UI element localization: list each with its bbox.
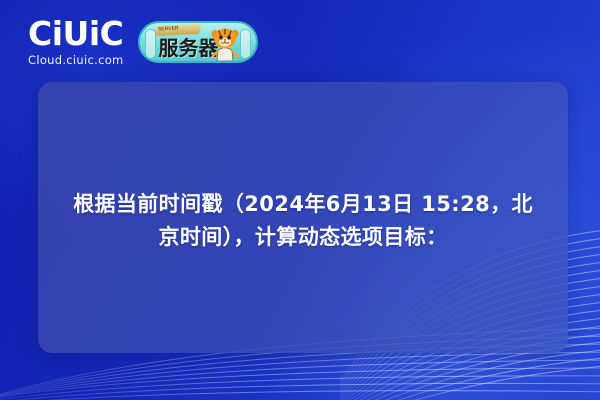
content-card: 根据当前时间戳（2024年6月13日 15:28，北京时间），计算动态选项目标： xyxy=(38,82,568,353)
brand-logo[interactable]: CiUiC Cloud.ciuic.com xyxy=(28,17,124,67)
badge-ribbon-label: SERVER xyxy=(157,25,178,32)
page-header: CiUiC Cloud.ciuic.com SERVER 服务器 xyxy=(0,0,600,82)
screenshot-root: CiUiC Cloud.ciuic.com SERVER 服务器 xyxy=(0,0,600,400)
tiger-mascot-icon xyxy=(208,26,242,62)
card-message: 根据当前时间戳（2024年6月13日 15:28，北京时间），计算动态选项目标： xyxy=(64,188,542,253)
server-badge: SERVER 服务器 xyxy=(138,21,258,63)
brand-name: CiUiC xyxy=(28,17,123,50)
brand-domain: Cloud.ciuic.com xyxy=(28,55,124,67)
badge-end-left-icon xyxy=(145,29,156,59)
